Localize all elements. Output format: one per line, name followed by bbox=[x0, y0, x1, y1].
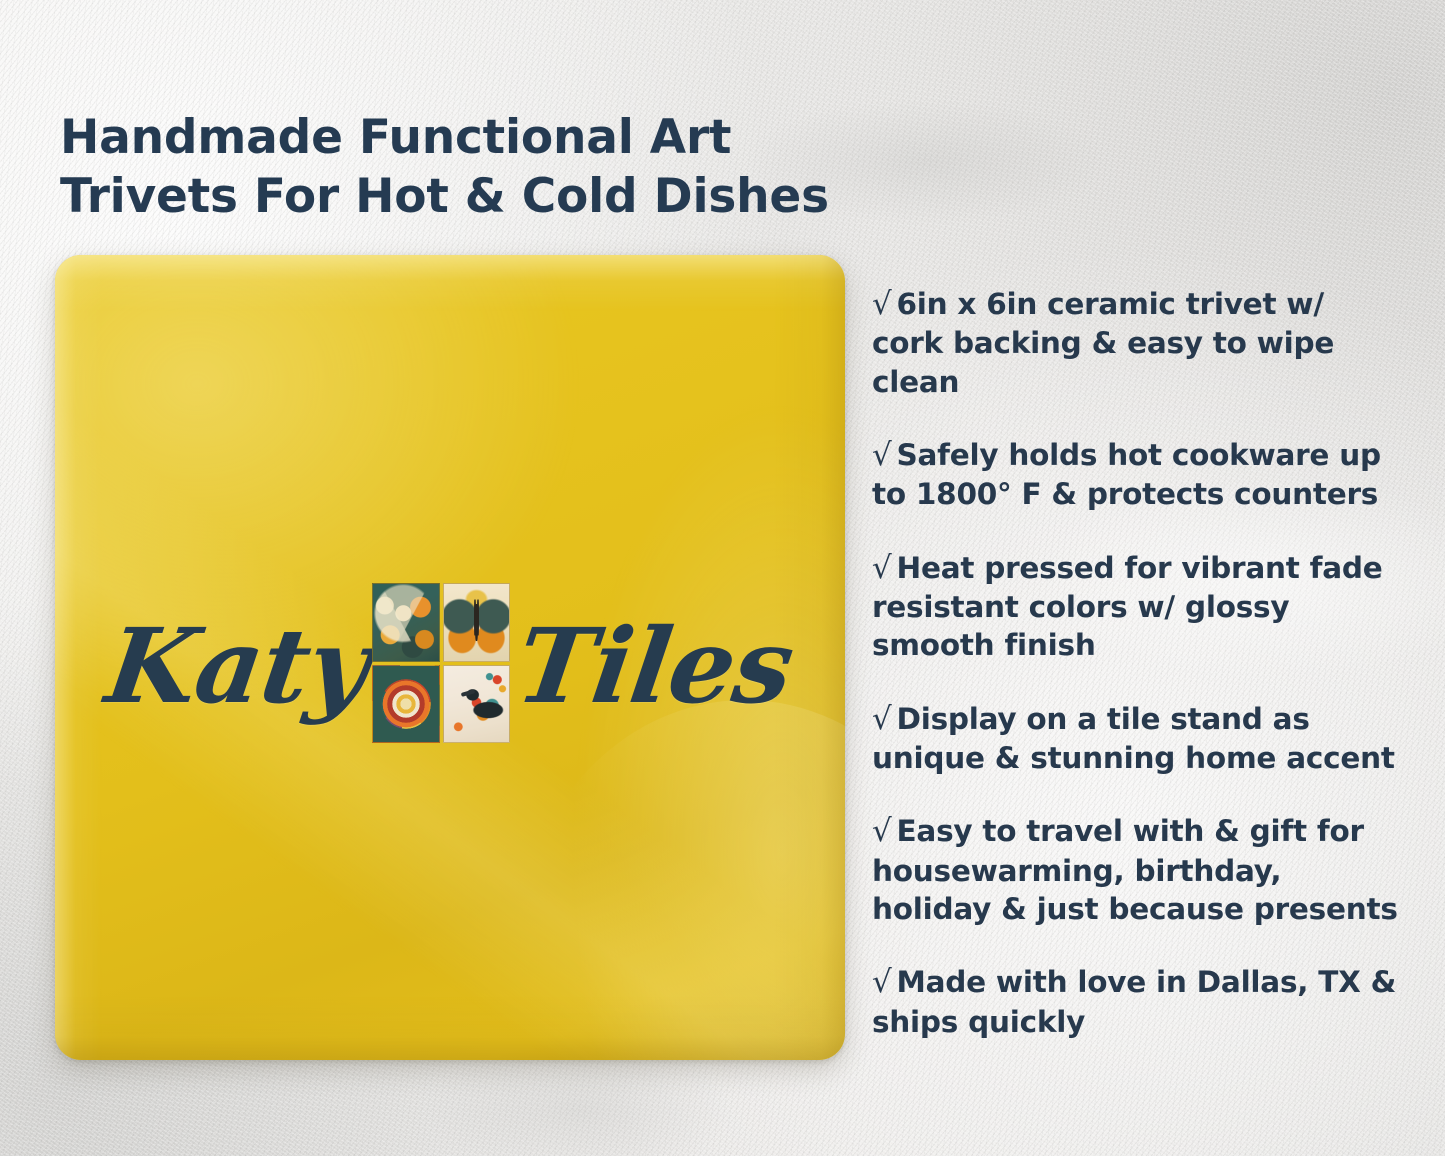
feature-list: √6in x 6in ceramic trivet w/ cork backin… bbox=[872, 284, 1400, 1041]
product-listing-canvas: Handmade Functional Art Trivets For Hot … bbox=[0, 0, 1445, 1156]
feature-item-5-text: Easy to travel with & gift for housewarm… bbox=[872, 814, 1398, 926]
feature-item-6: √Made with love in Dallas, TX & ships qu… bbox=[872, 962, 1400, 1041]
flower-art-icon bbox=[372, 583, 440, 662]
page-title: Handmade Functional Art Trivets For Hot … bbox=[60, 108, 880, 226]
check-icon: √ bbox=[872, 813, 892, 849]
page-title-line-2: Trivets For Hot & Cold Dishes bbox=[60, 167, 880, 226]
check-icon: √ bbox=[872, 964, 892, 1000]
check-icon: √ bbox=[872, 437, 892, 473]
page-title-line-1: Handmade Functional Art bbox=[60, 108, 880, 167]
brand-art-grid bbox=[372, 583, 510, 743]
feature-item-3-text: Heat pressed for vibrant fade resistant … bbox=[872, 551, 1383, 663]
brand-word-katy: Katy bbox=[101, 615, 375, 718]
feature-item-3: √Heat pressed for vibrant fade resistant… bbox=[872, 548, 1400, 665]
check-icon: √ bbox=[872, 286, 892, 322]
feature-item-6-text: Made with love in Dallas, TX & ships qui… bbox=[872, 965, 1396, 1038]
ceramic-tile-surface: Katy Tiles bbox=[55, 255, 845, 1060]
check-icon: √ bbox=[872, 701, 892, 737]
feature-item-1: √6in x 6in ceramic trivet w/ cork backin… bbox=[872, 284, 1400, 401]
feature-item-2-text: Safely holds hot cookware up to 1800° F … bbox=[872, 438, 1381, 511]
bird-art-icon bbox=[443, 665, 511, 744]
brand-word-tiles: Tiles bbox=[511, 615, 799, 718]
feature-item-4-text: Display on a tile stand as unique & stun… bbox=[872, 702, 1395, 775]
feature-item-2: √Safely holds hot cookware up to 1800° F… bbox=[872, 435, 1400, 514]
feature-item-1-text: 6in x 6in ceramic trivet w/ cork backing… bbox=[872, 287, 1334, 399]
brand-logo-lockup: Katy Tiles bbox=[55, 571, 845, 761]
product-image-trivet: Katy Tiles bbox=[55, 255, 845, 1060]
abstract-circles-art-icon bbox=[372, 665, 440, 744]
feature-item-4: √Display on a tile stand as unique & stu… bbox=[872, 699, 1400, 778]
butterfly-art-icon bbox=[443, 583, 511, 662]
check-icon: √ bbox=[872, 550, 892, 586]
feature-item-5: √Easy to travel with & gift for housewar… bbox=[872, 811, 1400, 928]
